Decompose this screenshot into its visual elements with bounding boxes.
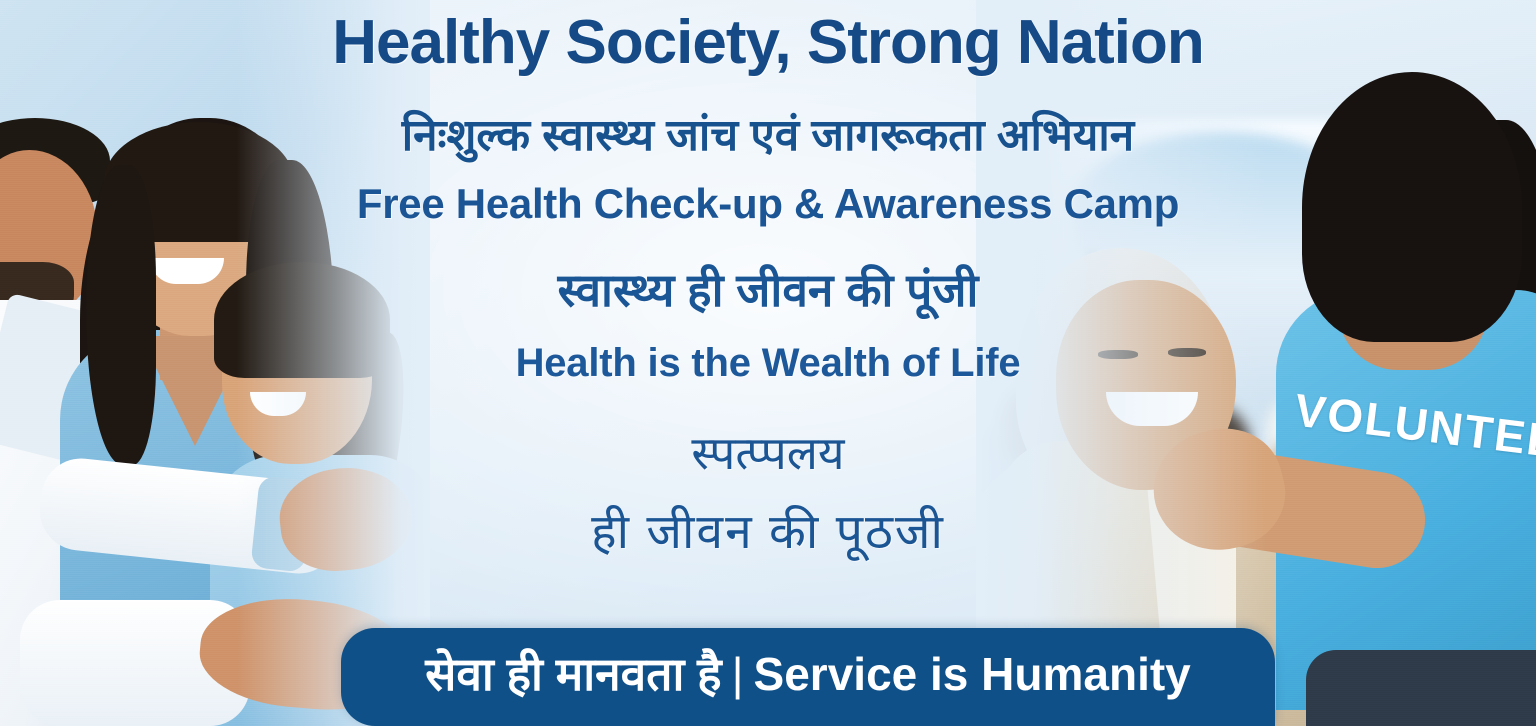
headline: Healthy Society, Strong Nation bbox=[0, 10, 1536, 75]
volunteer-trousers bbox=[1306, 650, 1536, 726]
hindi-subtitle: निःशुल्क स्वास्थ्य जांच एवं जागरूकता अभि… bbox=[0, 108, 1536, 163]
tagline-ribbon: सेवा ही मानवता है|Service is Humanity bbox=[341, 628, 1275, 726]
ribbon-hindi-text: सेवा ही मानवता है bbox=[425, 648, 721, 700]
english-subtitle: Free Health Check-up & Awareness Camp bbox=[0, 178, 1536, 231]
health-camp-banner: VOLUNTEER Swasth Parivaar, Healthy Socie… bbox=[0, 0, 1536, 726]
hindi-alt-line-one: स्पत्प्पलय bbox=[0, 424, 1536, 484]
english-tagline: Health is the Wealth of Life bbox=[0, 338, 1536, 388]
ribbon-text: सेवा ही मानवता है|Service is Humanity bbox=[425, 651, 1191, 703]
ribbon-english-text: Service is Humanity bbox=[754, 648, 1191, 700]
hindi-tagline: स्वास्थ्य ही जीवन की पूंजी bbox=[0, 262, 1536, 320]
hindi-alt-line-two: ही जीवन की पूठजी bbox=[0, 502, 1536, 564]
ribbon-separator: | bbox=[722, 648, 754, 700]
